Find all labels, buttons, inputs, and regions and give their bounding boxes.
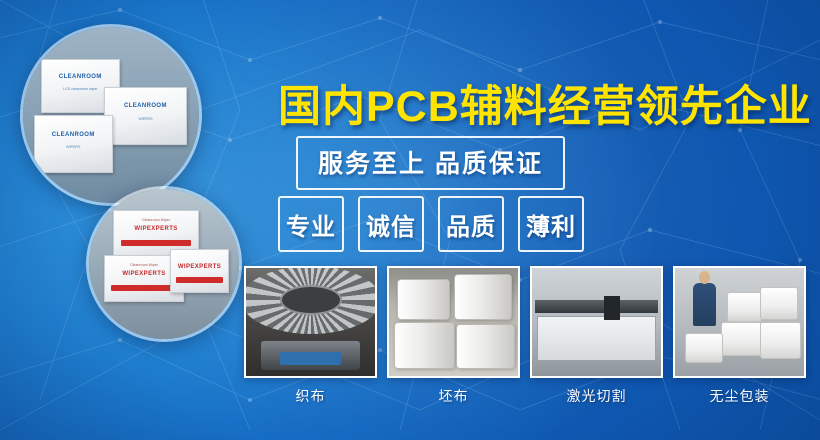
wipe-box-sub: WIPERS <box>110 117 181 121</box>
machine-hub <box>280 285 342 315</box>
packed-bale <box>727 292 763 322</box>
carton-sub: Cleanroom Wiper <box>110 263 179 267</box>
process-step-caption: 激光切割 <box>530 386 663 406</box>
promo-banner: CLEANROOM LCD cleanroom wiper CLEANROOM … <box>0 0 820 440</box>
knitting-machine-art <box>246 268 375 376</box>
machine-control-panel <box>280 352 342 365</box>
laser-head <box>604 296 619 320</box>
laser-gantry <box>535 300 659 313</box>
process-step-greige-fabric: 坯布 <box>387 266 520 406</box>
carton-sub: Cleanroom Wiper <box>119 218 193 222</box>
cleanroom-packing-photo <box>673 266 806 378</box>
worker-figure <box>693 283 716 326</box>
fabric-rolls-photo <box>387 266 520 378</box>
process-step-knitting: 织布 <box>244 266 377 406</box>
fabric-roll <box>454 274 513 319</box>
fabric-roll <box>394 322 455 369</box>
feature-tag-row: 专业 诚信 品质 薄利 <box>278 196 584 252</box>
wipe-box: CLEANROOM WIPERS <box>34 115 113 173</box>
fabric-rolls-art <box>389 268 518 376</box>
wipe-box-sub: WIPERS <box>39 145 107 149</box>
circle-photo-cleanroom-boxes: CLEANROOM LCD cleanroom wiper CLEANROOM … <box>20 24 202 206</box>
process-step-caption: 无尘包装 <box>673 386 806 406</box>
page-title: 国内PCB辅料经营领先企业 <box>278 72 812 134</box>
laser-cutter-art <box>532 268 661 376</box>
process-step-cleanroom-packing: 无尘包装 <box>673 266 806 406</box>
packed-bale <box>685 333 723 363</box>
subtitle-badge: 服务至上 品质保证 <box>296 136 565 190</box>
process-step-caption: 织布 <box>244 386 377 406</box>
carton-red-strip <box>121 240 192 246</box>
packing-area-art <box>675 268 804 376</box>
packed-bale <box>760 322 801 359</box>
wipe-box-label: CLEANROOM <box>46 73 114 82</box>
carton-red-strip <box>111 285 177 291</box>
circle-photo-wipexperts-cartons: Cleanroom Wiper WIPEXPERTS Cleanroom Wip… <box>86 186 242 342</box>
cleanroom-box-scene: CLEANROOM LCD cleanroom wiper CLEANROOM … <box>23 27 199 203</box>
feature-tag: 薄利 <box>518 196 584 252</box>
wipe-box-label: CLEANROOM <box>110 102 181 111</box>
packed-bale <box>760 287 798 319</box>
wipe-box: CLEANROOM WIPERS <box>104 87 187 145</box>
fabric-roll <box>397 279 451 320</box>
process-photo-strip: 织布 坯布 激光切割 <box>244 266 806 406</box>
laser-cutting-photo <box>530 266 663 378</box>
packed-bale <box>721 322 762 356</box>
process-step-caption: 坯布 <box>387 386 520 406</box>
feature-tag: 品质 <box>438 196 504 252</box>
process-step-laser-cutting: 激光切割 <box>530 266 663 406</box>
carton-box: WIPEXPERTS <box>170 249 229 293</box>
wipe-box-label: CLEANROOM <box>39 131 107 140</box>
feature-tag: 专业 <box>278 196 344 252</box>
carton-red-strip <box>176 277 224 283</box>
carton-label: WIPEXPERTS <box>119 225 193 234</box>
carton-label: WIPEXPERTS <box>110 270 179 279</box>
wipexperts-carton-scene: Cleanroom Wiper WIPEXPERTS Cleanroom Wip… <box>89 189 239 339</box>
cutting-table <box>537 316 656 361</box>
fabric-roll <box>456 324 515 369</box>
feature-tag: 诚信 <box>358 196 424 252</box>
carton-label: WIPEXPERTS <box>174 263 224 272</box>
knitting-machine-photo <box>244 266 377 378</box>
